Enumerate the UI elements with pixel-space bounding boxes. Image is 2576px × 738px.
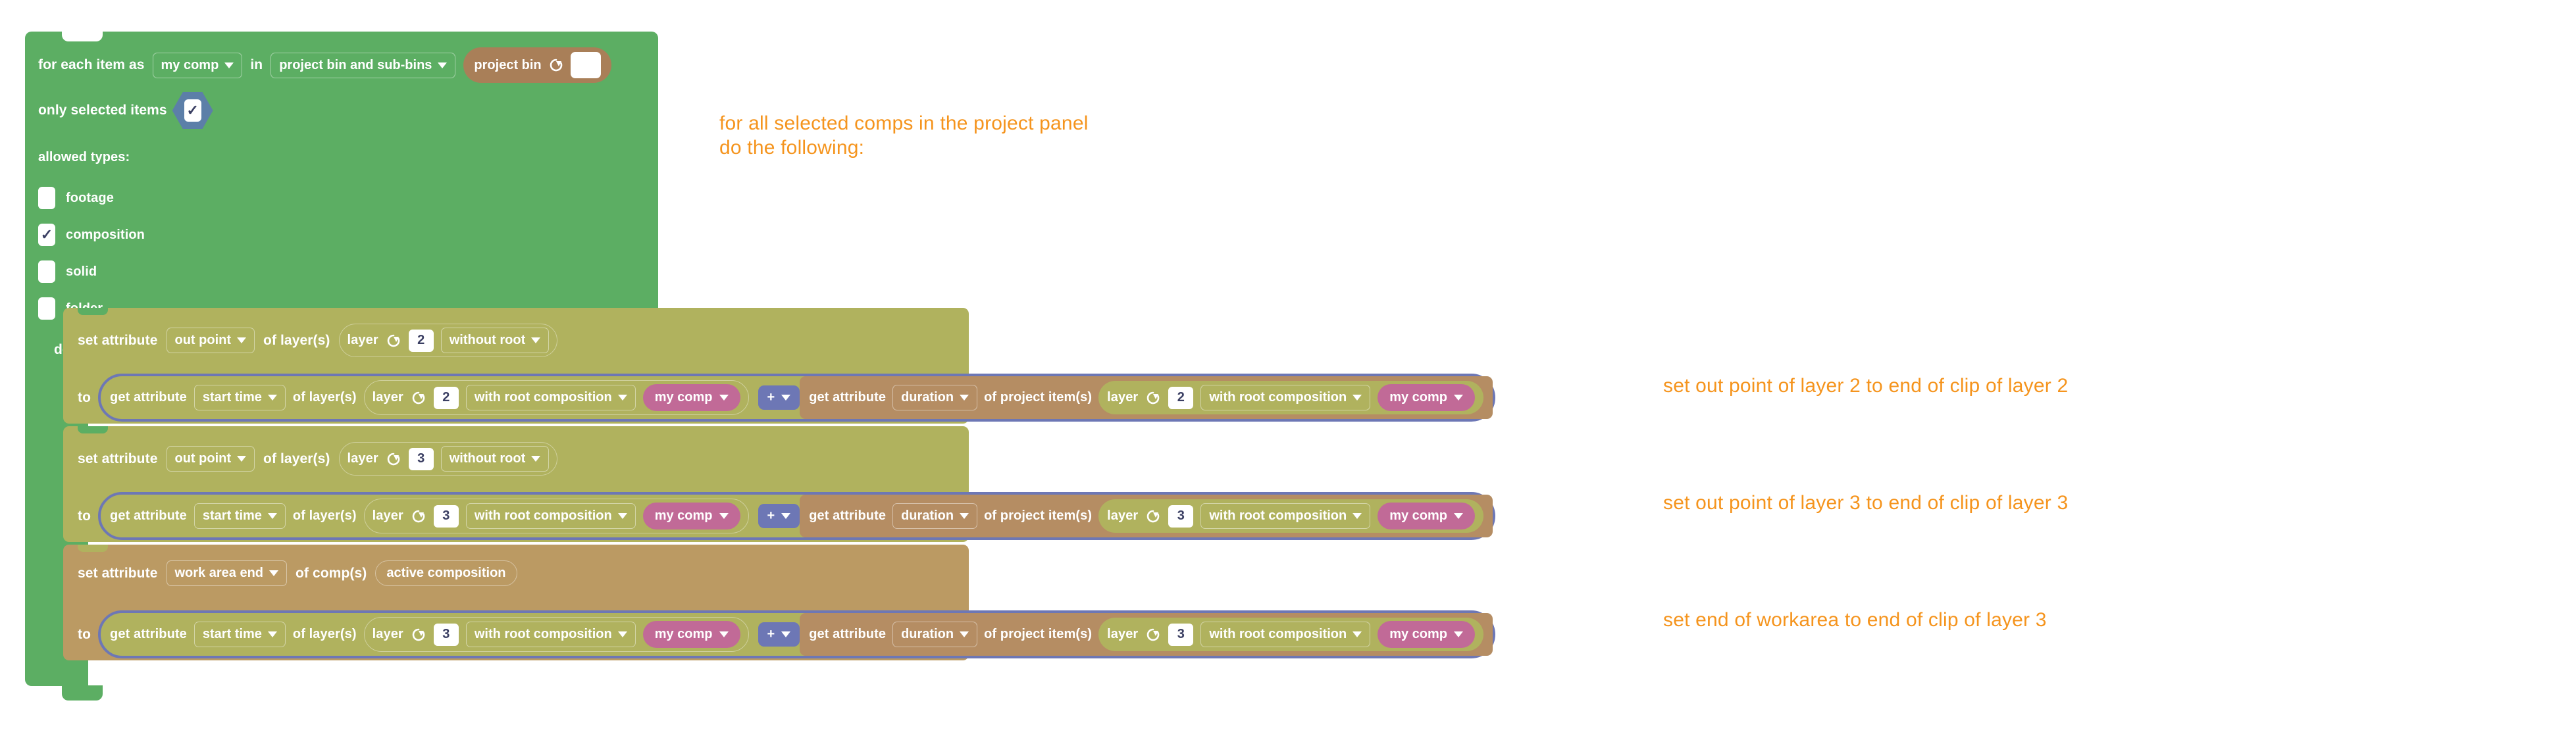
of-layers-label: of layer(s) xyxy=(293,508,357,524)
root-mode-value: with root composition xyxy=(1209,390,1347,405)
comp-variable-value: my comp xyxy=(1389,508,1447,524)
attribute-value: out point xyxy=(175,451,232,466)
active-composition-value: active composition xyxy=(386,566,505,581)
for-each-item-as-label: for each item as xyxy=(38,57,145,73)
layer-target-capsule[interactable]: layer 3 with root composition xyxy=(1098,618,1483,651)
layer-target-capsule[interactable]: layer 2 with root composition xyxy=(1098,381,1483,414)
attribute-dropdown[interactable]: duration xyxy=(892,385,977,410)
annotation-statement-3: set end of workarea to end of clip of la… xyxy=(1663,609,2047,631)
right-operand-get-attribute[interactable]: get attribute duration of project item(s… xyxy=(800,495,1493,537)
root-mode-value: with root composition xyxy=(1209,508,1347,524)
root-mode-value: without root xyxy=(450,333,526,348)
comp-variable-value: my comp xyxy=(1389,390,1447,405)
refresh-dropdown-icon[interactable] xyxy=(1145,390,1161,406)
layer-label: layer xyxy=(373,627,403,642)
annotation-top: for all selected comps in the project pa… xyxy=(719,112,1089,160)
chevron-down-icon xyxy=(1352,395,1362,401)
operator-value: + xyxy=(767,627,775,642)
addition-expression-reporter[interactable]: get attribute start time of layer(s) lay… xyxy=(98,610,1495,658)
statement-3-to-row: to get attribute start time of layer(s) … xyxy=(78,610,1495,658)
get-attribute-label: get attribute xyxy=(110,627,187,642)
get-attribute-label: get attribute xyxy=(809,627,886,642)
operator-dropdown[interactable]: + xyxy=(758,385,800,410)
root-mode-dropdown[interactable]: with root composition xyxy=(466,503,636,529)
chevron-down-icon xyxy=(781,395,790,401)
statement-top-notch xyxy=(78,426,108,433)
layer-index-input[interactable]: 3 xyxy=(1168,505,1193,528)
of-project-items-label: of project item(s) xyxy=(984,390,1092,405)
layer-index-input[interactable]: 2 xyxy=(1168,387,1193,409)
of-layers-label: of layer(s) xyxy=(293,390,357,405)
operator-value: + xyxy=(767,508,775,524)
get-attribute-label: get attribute xyxy=(809,390,886,405)
set-attribute-label: set attribute xyxy=(78,566,158,581)
layer-label: layer xyxy=(1107,390,1138,405)
right-operand-get-attribute[interactable]: get attribute duration of project item(s… xyxy=(800,613,1493,656)
chevron-down-icon xyxy=(531,337,540,343)
chevron-down-icon xyxy=(719,395,729,401)
addition-expression-reporter[interactable]: get attribute start time of layer(s) lay… xyxy=(98,492,1495,540)
chevron-down-icon xyxy=(1454,631,1463,637)
chevron-down-icon xyxy=(438,62,447,68)
chevron-down-icon xyxy=(268,631,277,637)
comp-variable-block[interactable]: my comp xyxy=(1378,503,1475,529)
root-mode-dropdown[interactable]: without root xyxy=(441,328,550,353)
allowed-types-heading-row: allowed types: xyxy=(38,150,130,165)
footage-label: footage xyxy=(66,191,114,206)
to-label: to xyxy=(78,390,91,406)
of-layers-label: of layer(s) xyxy=(263,451,330,467)
addition-expression-reporter[interactable]: get attribute start time of layer(s) lay… xyxy=(98,374,1495,422)
chevron-down-icon xyxy=(1352,513,1362,519)
chevron-down-icon xyxy=(237,456,246,462)
attribute-dropdown[interactable]: start time xyxy=(194,385,286,410)
chevron-down-icon xyxy=(1352,631,1362,637)
chevron-down-icon xyxy=(960,395,969,401)
to-label: to xyxy=(78,508,91,524)
chevron-down-icon xyxy=(268,395,277,401)
block-bottom-notch xyxy=(62,685,103,701)
layer-target-capsule[interactable]: layer 3 with root composition xyxy=(1098,499,1483,533)
layer-label: layer xyxy=(348,333,378,348)
composition-label: composition xyxy=(66,228,145,243)
to-label: to xyxy=(78,627,91,643)
right-operand-get-attribute[interactable]: get attribute duration of project item(s… xyxy=(800,376,1493,419)
project-bin-label: project bin xyxy=(474,58,541,73)
layer-index-input[interactable]: 2 xyxy=(434,387,459,409)
layer-index-input[interactable]: 3 xyxy=(409,448,434,470)
attribute-value: duration xyxy=(901,508,954,524)
chevron-down-icon xyxy=(719,513,729,519)
of-layers-label: of layer(s) xyxy=(263,333,330,349)
statement-1-to-row: to get attribute start time of layer(s) … xyxy=(78,374,1495,422)
folder-checkbox[interactable] xyxy=(38,297,55,320)
solid-label: solid xyxy=(66,264,97,280)
layer-index-input[interactable]: 3 xyxy=(434,505,459,528)
statement-top-notch xyxy=(78,545,108,552)
root-mode-value: with root composition xyxy=(1209,627,1347,642)
allowed-type-row-composition[interactable]: ✓ composition xyxy=(38,224,145,246)
refresh-dropdown-icon[interactable] xyxy=(1145,627,1161,643)
active-composition-target[interactable]: active composition xyxy=(375,560,517,586)
annotation-statement-2: set out point of layer 3 to end of clip … xyxy=(1663,492,2068,514)
set-attribute-statement-1[interactable]: set attribute out point of layer(s) laye… xyxy=(63,308,969,424)
project-bin-source-block[interactable]: project bin xyxy=(463,47,611,83)
chevron-down-icon xyxy=(268,513,277,519)
layer-target-capsule[interactable]: layer 2 with root composition xyxy=(364,380,749,415)
statement-2-to-row: to get attribute start time of layer(s) … xyxy=(78,492,1495,540)
root-mode-dropdown[interactable]: with root composition xyxy=(1200,503,1370,529)
item-variable-value: my comp xyxy=(161,58,219,73)
chevron-down-icon xyxy=(781,631,790,637)
chevron-down-icon xyxy=(531,456,540,462)
root-mode-dropdown[interactable]: with root composition xyxy=(466,385,636,410)
comp-variable-block[interactable]: my comp xyxy=(1378,621,1475,648)
layer-label: layer xyxy=(1107,508,1138,524)
only-selected-items-boolean-slot[interactable]: ✓ xyxy=(172,92,213,129)
layer-index-input[interactable]: 3 xyxy=(1168,624,1193,646)
chevron-down-icon xyxy=(618,395,627,401)
layer-label: layer xyxy=(373,508,403,524)
chevron-down-icon xyxy=(618,631,627,637)
refresh-dropdown-icon[interactable] xyxy=(411,627,426,643)
set-attribute-label: set attribute xyxy=(78,333,158,349)
annotation-statement-1: set out point of layer 2 to end of clip … xyxy=(1663,375,2068,397)
layer-target-capsule[interactable]: layer 3 with root composition xyxy=(364,499,749,533)
of-layers-label: of layer(s) xyxy=(293,627,357,642)
root-mode-value: with root composition xyxy=(475,390,612,405)
left-operand-get-attribute[interactable]: get attribute start time of layer(s) lay… xyxy=(101,613,758,656)
left-operand-get-attribute[interactable]: get attribute start time of layer(s) lay… xyxy=(101,495,758,537)
layer-index-input[interactable]: 3 xyxy=(434,624,459,646)
operator-dropdown[interactable]: + xyxy=(758,622,800,647)
comp-variable-value: my comp xyxy=(655,390,713,405)
layer-target-capsule[interactable]: layer 2 without root xyxy=(339,324,558,357)
block-top-notch xyxy=(62,32,103,41)
solid-checkbox[interactable] xyxy=(38,260,55,283)
attribute-dropdown[interactable]: work area end xyxy=(167,560,288,586)
refresh-dropdown-icon[interactable] xyxy=(411,508,426,524)
only-selected-items-row: only selected items ✓ xyxy=(38,92,213,129)
layer-index-input[interactable]: 2 xyxy=(409,330,434,352)
in-label: in xyxy=(250,57,263,73)
only-selected-items-label: only selected items xyxy=(38,103,167,118)
chevron-down-icon xyxy=(224,62,234,68)
attribute-value: work area end xyxy=(175,566,264,581)
refresh-dropdown-icon[interactable] xyxy=(548,57,564,73)
refresh-dropdown-icon[interactable] xyxy=(1145,508,1161,524)
chevron-down-icon xyxy=(719,631,729,637)
refresh-dropdown-icon[interactable] xyxy=(386,333,401,349)
comp-variable-value: my comp xyxy=(655,627,713,642)
layer-target-capsule[interactable]: layer 3 without root xyxy=(339,442,558,476)
only-selected-items-checkbox[interactable]: ✓ xyxy=(184,99,201,122)
operator-value: + xyxy=(767,390,775,405)
attribute-dropdown[interactable]: duration xyxy=(892,503,977,529)
attribute-dropdown[interactable]: out point xyxy=(167,446,255,472)
allowed-type-row-footage[interactable]: footage xyxy=(38,187,114,209)
set-attribute-label: set attribute xyxy=(78,451,158,467)
refresh-dropdown-icon[interactable] xyxy=(386,451,401,467)
allowed-types-label: allowed types: xyxy=(38,150,130,165)
chevron-down-icon xyxy=(1454,513,1463,519)
get-attribute-label: get attribute xyxy=(110,508,187,524)
allowed-type-row-solid[interactable]: solid xyxy=(38,260,97,283)
root-mode-value: with root composition xyxy=(475,627,612,642)
blocks-canvas: for each item as my comp in project bin … xyxy=(0,0,2576,738)
scope-value: project bin and sub-bins xyxy=(279,58,432,73)
attribute-value: out point xyxy=(175,333,232,348)
set-attribute-statement-2[interactable]: set attribute out point of layer(s) laye… xyxy=(63,426,969,542)
item-variable-dropdown[interactable]: my comp xyxy=(153,53,243,78)
comp-variable-block[interactable]: my comp xyxy=(643,621,740,648)
comp-variable-value: my comp xyxy=(1389,627,1447,642)
operator-dropdown[interactable]: + xyxy=(758,504,800,528)
left-operand-get-attribute[interactable]: get attribute start time of layer(s) lay… xyxy=(101,376,758,419)
layer-label: layer xyxy=(373,390,403,405)
attribute-value: duration xyxy=(901,390,954,405)
composition-checkbox[interactable]: ✓ xyxy=(38,224,55,246)
chevron-down-icon xyxy=(1454,395,1463,401)
of-project-items-label: of project item(s) xyxy=(984,627,1092,642)
project-bin-text-input[interactable] xyxy=(571,52,601,78)
chevron-down-icon xyxy=(960,631,969,637)
attribute-dropdown[interactable]: duration xyxy=(892,622,977,647)
chevron-down-icon xyxy=(781,513,790,519)
statement-top-notch xyxy=(78,308,108,315)
comp-variable-block[interactable]: my comp xyxy=(1378,384,1475,411)
attribute-dropdown[interactable]: start time xyxy=(194,503,286,529)
attribute-value: start time xyxy=(203,508,262,524)
get-attribute-label: get attribute xyxy=(809,508,886,524)
attribute-dropdown[interactable]: start time xyxy=(194,622,286,647)
layer-label: layer xyxy=(1107,627,1138,642)
root-mode-value: without root xyxy=(450,451,526,466)
chevron-down-icon xyxy=(237,337,246,343)
root-mode-dropdown[interactable]: with root composition xyxy=(466,622,636,647)
attribute-dropdown[interactable]: out point xyxy=(167,328,255,353)
comp-variable-block[interactable]: my comp xyxy=(643,503,740,529)
statement-2-set-row: set attribute out point of layer(s) laye… xyxy=(78,442,557,476)
footage-checkbox[interactable] xyxy=(38,187,55,209)
comp-variable-block[interactable]: my comp xyxy=(643,384,740,411)
chevron-down-icon xyxy=(960,513,969,519)
root-mode-value: with root composition xyxy=(475,508,612,524)
attribute-value: start time xyxy=(203,627,262,642)
set-attribute-statement-3[interactable]: set attribute work area end of comp(s) a… xyxy=(63,545,969,660)
loop-header-row: for each item as my comp in project bin … xyxy=(38,47,611,83)
attribute-value: start time xyxy=(203,390,262,405)
of-project-items-label: of project item(s) xyxy=(984,508,1092,524)
of-comps-label: of comp(s) xyxy=(296,566,367,581)
comp-variable-value: my comp xyxy=(655,508,713,524)
statement-1-set-row: set attribute out point of layer(s) laye… xyxy=(78,324,557,357)
chevron-down-icon xyxy=(618,513,627,519)
layer-label: layer xyxy=(348,451,378,466)
root-mode-dropdown[interactable]: with root composition xyxy=(1200,385,1370,410)
root-mode-dropdown[interactable]: without root xyxy=(441,446,550,472)
scope-dropdown[interactable]: project bin and sub-bins xyxy=(270,53,455,78)
root-mode-dropdown[interactable]: with root composition xyxy=(1200,622,1370,647)
layer-target-capsule[interactable]: layer 3 with root composition xyxy=(364,617,749,652)
attribute-value: duration xyxy=(901,627,954,642)
statement-3-set-row: set attribute work area end of comp(s) a… xyxy=(78,560,517,586)
get-attribute-label: get attribute xyxy=(110,390,187,405)
refresh-dropdown-icon[interactable] xyxy=(411,390,426,406)
chevron-down-icon xyxy=(269,570,278,576)
